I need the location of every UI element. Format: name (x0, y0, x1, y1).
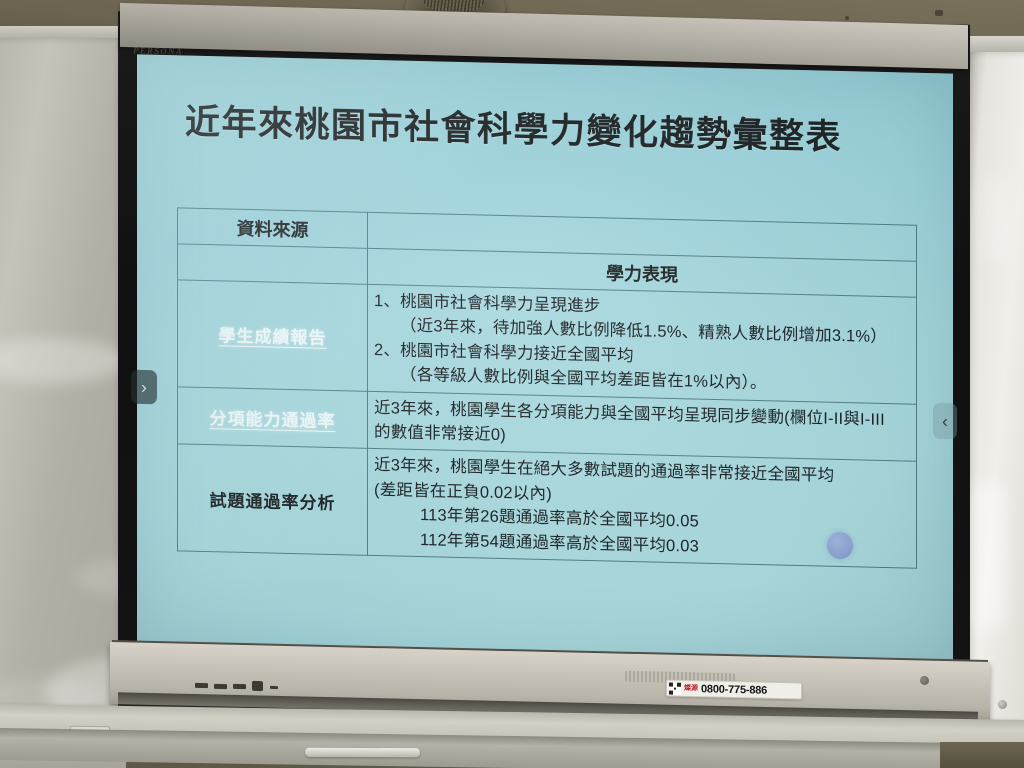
presenter-cursor-dot (827, 532, 853, 560)
whiteboard-screw (998, 700, 1007, 709)
bezel-button[interactable] (214, 684, 227, 689)
row-performance-cell: 1、桃園市社會科學力呈現進步 （近3年來，待加強人數比例降低1.5%、精熟人數比… (368, 284, 917, 404)
row-source-label: 試題通過率分析 (178, 444, 368, 555)
next-slide-button[interactable]: › (131, 370, 157, 405)
summary-table: 資料來源 學力表現 學生成績報告 1、桃園市社會科學力呈現進步 （近3年來，待加… (177, 207, 917, 569)
row-source-label: 學生成績報告 (178, 280, 368, 391)
whiteboard-panel-left (0, 38, 126, 716)
sticker-brand-label: 燦源 (684, 685, 698, 692)
slide-title: 近年來桃園市社會科學力變化趨勢彙整表 (185, 94, 915, 162)
whiteboard-panel-right (962, 52, 1024, 742)
floor-corner (940, 742, 1024, 768)
projection-screen[interactable]: 近年來桃園市社會科學力變化趨勢彙整表 資料來源 學力表現 學生成績報告 1、桃園… (137, 54, 953, 661)
bezel-button[interactable] (195, 683, 208, 688)
classroom-scene: PERSONA 近年來桃園市社會科學力變化趨勢彙整表 資料來源 學力表現 學生成… (0, 0, 1024, 768)
service-sticker: 燦源 0800-775-886 (666, 679, 802, 699)
qr-code-icon (669, 682, 681, 694)
header-source: 資料來源 (178, 208, 368, 248)
chevron-right-icon: › (141, 378, 147, 395)
bezel-usb-port-icon (252, 681, 263, 691)
ceiling-fixture-dot (935, 10, 943, 16)
prev-slide-button[interactable]: ‹ (933, 403, 957, 440)
sticker-phone-number: 0800-775-886 (701, 683, 767, 697)
ceiling-fixture-dot (845, 16, 849, 20)
bezel-button[interactable] (233, 684, 246, 689)
row-source-label: 分項能力通過率 (178, 386, 368, 448)
chevron-left-icon: ‹ (942, 412, 948, 429)
table-row: 試題通過率分析 近3年來，桃園學生在絕大多數試題的通過率非常接近全國平均 (差距… (178, 444, 917, 568)
presentation-slide: 近年來桃園市社會科學力變化趨勢彙整表 資料來源 學力表現 學生成績報告 1、桃園… (137, 54, 953, 661)
whiteboard-marker[interactable] (305, 748, 420, 757)
table-row: 學生成績報告 1、桃園市社會科學力呈現進步 （近3年來，待加強人數比例降低1.5… (178, 280, 917, 404)
header-source-spacer (178, 244, 368, 284)
bezel-button[interactable] (270, 686, 278, 689)
power-indicator[interactable] (920, 676, 929, 685)
